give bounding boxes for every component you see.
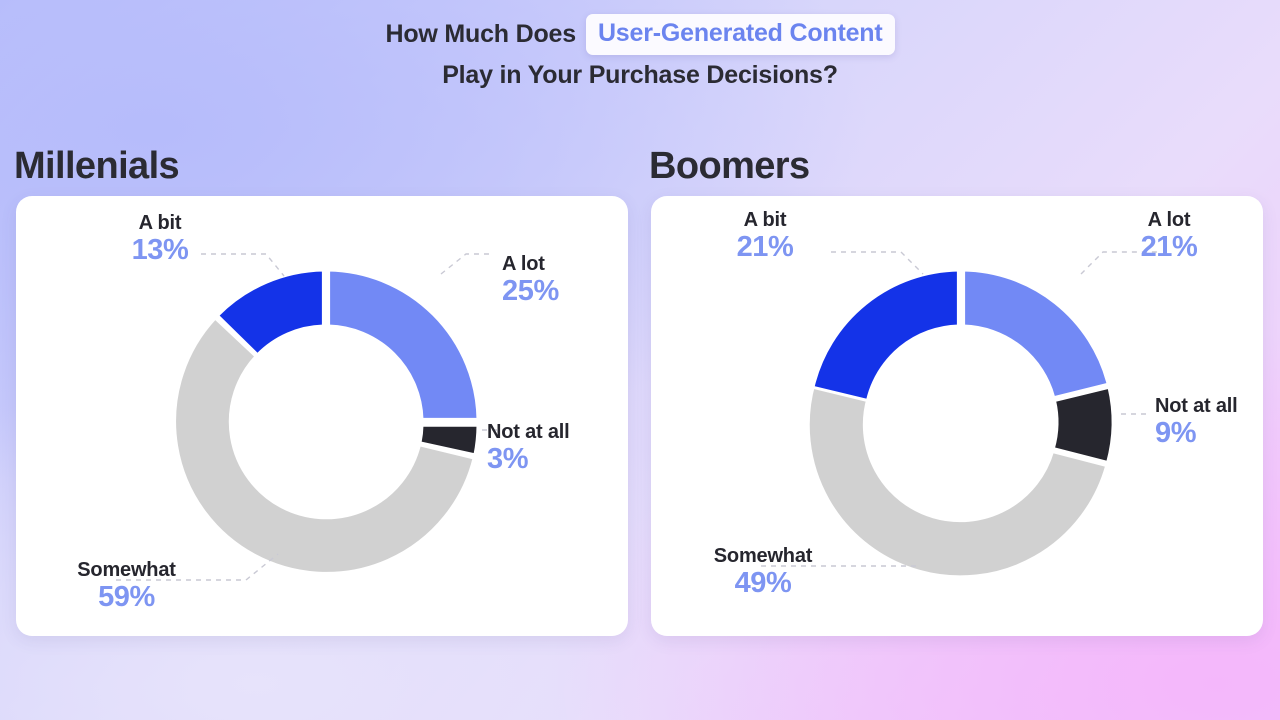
callout-percent-value: 49% [663,569,863,599]
callout-a-bit-boomers: A bit 21% [717,210,813,263]
title-highlight-chip: User-Generated Content [586,14,895,55]
callout-category-label: Not at all [1155,396,1237,416]
callout-category-label: A bit [717,210,813,230]
donut-chart-millenials: A bit 13% A lot 25% Not at all 3% Somewh… [16,232,628,612]
callout-somewhat-boomers: Somewhat 49% [663,546,863,599]
callout-a-lot-boomers: A lot 21% [1121,210,1217,263]
callout-percent-value: 13% [112,236,208,266]
callout-category-label: Not at all [487,422,569,442]
callout-somewhat-millenials: Somewhat 59% [49,560,204,613]
donut-slice-not-at-all[interactable] [1053,387,1113,462]
callout-not-at-all-millenials: Not at all 3% [487,422,569,475]
callout-percent-value: 9% [1155,419,1237,449]
group-heading-millenials: Millenials [14,142,179,190]
chart-panel-boomers: A bit 21% A lot 21% Not at all 9% Somewh… [651,196,1263,636]
donut-slice-a-lot[interactable] [964,270,1109,398]
callout-percent-value: 25% [502,277,559,307]
callout-category-label: A lot [1121,210,1217,230]
callout-category-label: Somewhat [663,546,863,566]
callout-category-label: A lot [502,254,559,274]
callout-a-lot-millenials: A lot 25% [502,254,559,307]
title-text-part2: Play in Your Purchase Decisions? [442,54,838,96]
callout-category-label: A bit [112,213,208,233]
donut-slice-a-bit[interactable] [813,270,958,401]
donut-slice-a-lot[interactable] [329,270,478,419]
callout-percent-value: 21% [717,233,813,263]
group-heading-boomers: Boomers [649,142,810,190]
title-text-part1: How Much Does [385,13,575,55]
chart-panel-millenials: A bit 13% A lot 25% Not at all 3% Somewh… [16,196,628,636]
donut-chart-boomers: A bit 21% A lot 21% Not at all 9% Somewh… [651,232,1263,612]
title-line-2: Play in Your Purchase Decisions? [0,54,1280,96]
callout-a-bit-millenials: A bit 13% [112,213,208,266]
title-line-1: How Much Does User-Generated Content [0,13,1280,55]
callout-not-at-all-boomers: Not at all 9% [1155,396,1237,449]
donut-svg-millenials [116,232,536,612]
page-title: How Much Does User-Generated Content Pla… [0,13,1280,96]
callout-category-label: Somewhat [49,560,204,580]
callout-percent-value: 21% [1121,233,1217,263]
callout-percent-value: 3% [487,445,569,475]
infographic-canvas: How Much Does User-Generated Content Pla… [0,0,1280,720]
callout-percent-value: 59% [49,583,204,613]
